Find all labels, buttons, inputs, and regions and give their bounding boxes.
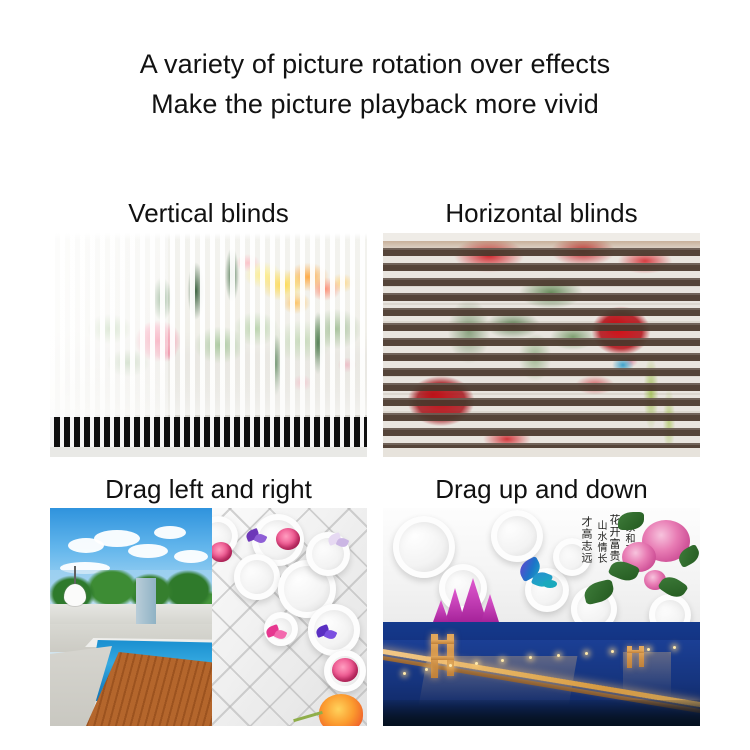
caption-drag-up-down: Drag up and down [383, 474, 700, 504]
vertical-blind-open-band-slats [50, 417, 367, 447]
headline-line-1: A variety of picture rotation over effec… [0, 44, 750, 84]
vertical-blind-floor [50, 447, 367, 457]
panel-drag-up-down: 才高志远 山水情长 花开富贵 家和万事兴 [383, 508, 700, 726]
cloud [154, 526, 186, 539]
mural-ring [491, 510, 543, 562]
pink-rose [332, 658, 358, 682]
pink-rose [276, 528, 300, 550]
mural-scene-image: 才高志远 山水情长 花开富贵 家和万事兴 [383, 508, 700, 622]
peony-leaf [618, 512, 644, 530]
headline-line-2: Make the picture playback more vivid [0, 84, 750, 124]
mural-ring [649, 594, 691, 622]
horizontal-blind-top-gap [383, 233, 700, 241]
bridge-light [529, 656, 532, 659]
bridge-light [475, 662, 478, 665]
cloud [94, 530, 140, 547]
circles-mural-image [212, 508, 367, 726]
water-feature-pillar [136, 578, 156, 626]
headline-block: A variety of picture rotation over effec… [0, 44, 750, 124]
vertical-blind-wash-bottom [50, 355, 367, 415]
panel-drag-left-right [50, 508, 367, 726]
bridge-tower-crossbar [431, 656, 454, 660]
calligraphy-column: 山水情长 [595, 520, 606, 564]
bridge-light [557, 654, 560, 657]
cloud [174, 550, 208, 563]
caption-drag-left-right: Drag left and right [50, 474, 367, 504]
bridge-night-image [383, 622, 700, 726]
bridge-light [611, 650, 614, 653]
bridge-light [501, 659, 504, 662]
mural-ring [393, 516, 455, 578]
garden-wall [50, 604, 212, 626]
hanging-egg-chair [64, 584, 86, 606]
pool-scene-image [50, 508, 212, 726]
cloud [128, 544, 168, 558]
bridge-tower-crossbar [627, 650, 644, 653]
mural-ring [234, 554, 280, 600]
bridge-light [585, 652, 588, 655]
bridge-light [647, 648, 650, 651]
river-bank [383, 700, 700, 726]
panel-horizontal-blinds [383, 233, 700, 457]
vertical-blind-open-band [50, 417, 367, 447]
vertical-blind-headrail [50, 233, 367, 239]
hanging-chair-rope [74, 566, 76, 586]
bridge-tower-crossbar [431, 640, 454, 644]
horizontal-blind-slat-sheen [383, 233, 700, 457]
calligraphy-column: 才高志远 [580, 516, 592, 564]
bridge-light [425, 668, 428, 671]
bridge-light [673, 646, 676, 649]
horizontal-blind-bottom-gap [383, 448, 700, 457]
bridge-light [403, 672, 406, 675]
bridge-light [449, 664, 452, 667]
promo-page: A variety of picture rotation over effec… [0, 0, 750, 750]
panel-vertical-blinds [50, 233, 367, 457]
orange-flower [319, 694, 363, 726]
caption-horizontal-blinds: Horizontal blinds [383, 198, 700, 228]
caption-vertical-blinds: Vertical blinds [50, 198, 367, 228]
